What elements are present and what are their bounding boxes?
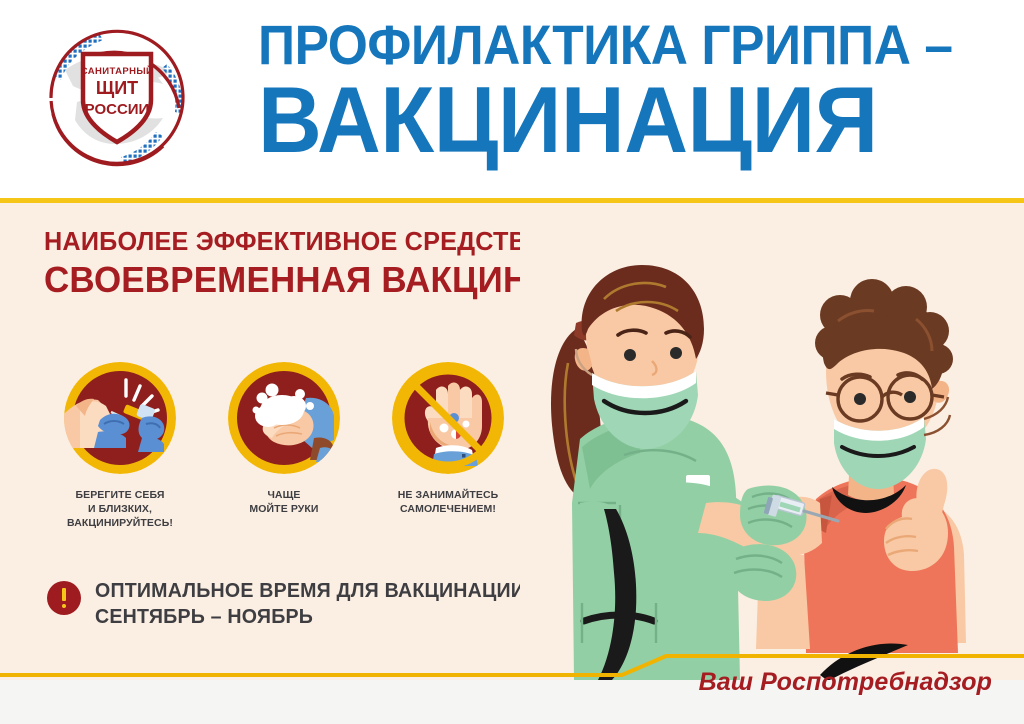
footer-signature: Ваш Роспотребнадзор — [699, 668, 992, 697]
hand-washing-soap-icon — [228, 362, 340, 474]
advice-caption-handwashing: ЧАЩЕ МОЙТЕ РУКИ — [220, 488, 348, 516]
poster-root: САНИТАРНЫЙ ЩИТ РОССИИ ПРОФИЛАКТИКА ГРИПП… — [0, 0, 1024, 724]
advice-icons-row: БЕРЕГИТЕ СЕБЯ И БЛИЗКИХ, ВАКЦИНИРУЙТЕСЬ! — [56, 362, 556, 531]
no-self-medication-pills-icon — [392, 362, 504, 474]
poster-title: ПРОФИЛАКТИКА ГРИППА – ВАКЦИНАЦИЯ — [258, 18, 958, 164]
advice-caption-no-self-medication: НЕ ЗАНИМАЙТЕСЬ САМОЛЕЧЕНИЕМ! — [384, 488, 512, 516]
advice-item-vaccination: БЕРЕГИТЕ СЕБЯ И БЛИЗКИХ, ВАКЦИНИРУЙТЕСЬ! — [56, 362, 184, 531]
svg-text:САНИТАРНЫЙ: САНИТАРНЫЙ — [81, 65, 154, 77]
advice-item-handwashing: ЧАЩЕ МОЙТЕ РУКИ — [220, 362, 348, 531]
optimal-time-alert-text: ОПТИМАЛЬНОЕ ВРЕМЯ ДЛЯ ВАКЦИНАЦИИ – СЕНТЯ… — [95, 578, 542, 631]
title-line-1: ПРОФИЛАКТИКА ГРИППА – — [258, 18, 902, 71]
nurse-vaccinating-patient-illustration — [520, 203, 1024, 680]
sanitary-shield-of-russia-emblem: САНИТАРНЫЙ ЩИТ РОССИИ — [43, 24, 191, 172]
optimal-time-alert: ОПТИМАЛЬНОЕ ВРЕМЯ ДЛЯ ВАКЦИНАЦИИ – СЕНТЯ… — [47, 578, 551, 631]
svg-text:РОССИИ: РОССИИ — [85, 101, 150, 118]
vaccination-injection-icon — [64, 362, 176, 474]
title-line-2: ВАКЦИНАЦИЯ — [258, 75, 916, 164]
exclamation-badge-icon — [47, 581, 81, 615]
advice-caption-vaccination: БЕРЕГИТЕ СЕБЯ И БЛИЗКИХ, ВАКЦИНИРУЙТЕСЬ! — [56, 488, 184, 531]
svg-text:ЩИТ: ЩИТ — [96, 78, 138, 98]
advice-item-no-self-medication: НЕ ЗАНИМАЙТЕСЬ САМОЛЕЧЕНИЕМ! — [384, 362, 512, 531]
